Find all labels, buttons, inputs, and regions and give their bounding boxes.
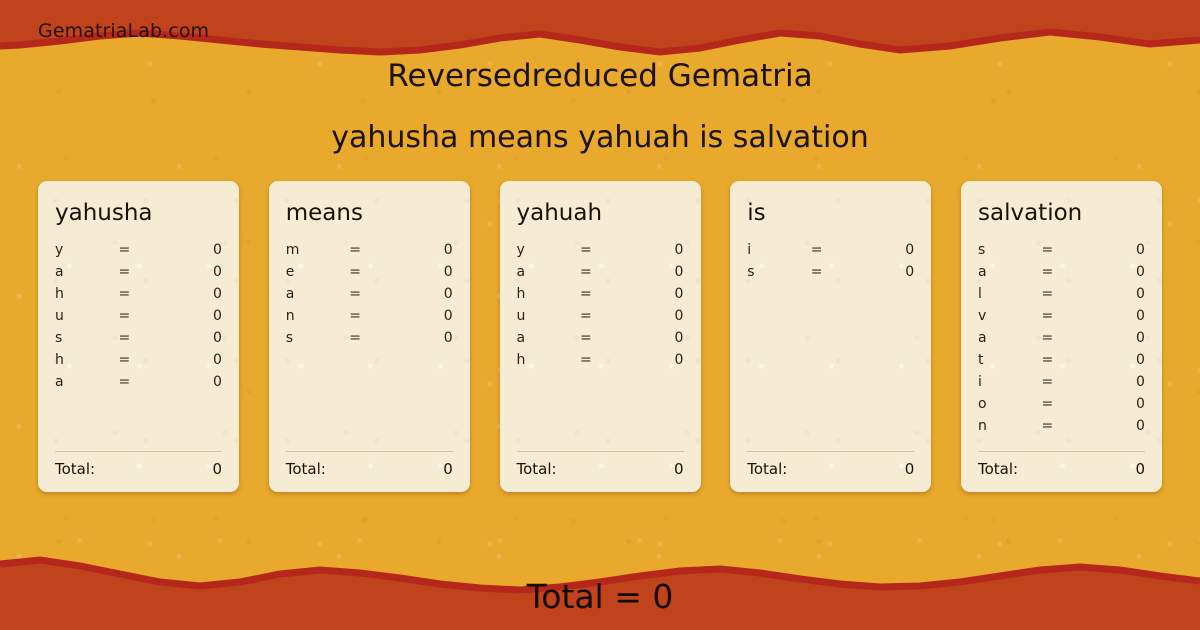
word-card-title: yahuah (517, 201, 684, 225)
letter-value: 0 (623, 261, 683, 283)
word-card-title: yahusha (55, 201, 222, 225)
letter-glyph: a (978, 261, 1041, 283)
phrase-heading: yahusha means yahuah is salvation (0, 120, 1200, 155)
letter-value: 0 (623, 349, 683, 371)
letter-glyph: a (517, 261, 580, 283)
letter-row-list: i=0s=0 (747, 239, 914, 451)
equals-sign: = (118, 349, 161, 371)
card-total-label: Total: (517, 460, 557, 478)
equals-sign: = (1041, 261, 1084, 283)
letter-value: 0 (1085, 371, 1145, 393)
letter-row: a=0 (517, 261, 684, 283)
word-card: meansm=0e=0a=0n=0s=0Total:0 (269, 181, 470, 492)
equals-sign: = (118, 283, 161, 305)
letter-row: h=0 (55, 283, 222, 305)
letter-value: 0 (393, 261, 453, 283)
equals-sign: = (349, 305, 392, 327)
letter-glyph: y (517, 239, 580, 261)
letter-value: 0 (1085, 327, 1145, 349)
word-card: yahuahy=0a=0h=0u=0a=0h=0Total:0 (500, 181, 701, 492)
letter-row: l=0 (978, 283, 1145, 305)
letter-glyph: v (978, 305, 1041, 327)
letter-glyph: n (286, 305, 349, 327)
letter-row: a=0 (978, 327, 1145, 349)
letter-value: 0 (623, 283, 683, 305)
letter-row-list: m=0e=0a=0n=0s=0 (286, 239, 453, 451)
card-divider (517, 451, 684, 452)
letter-row: a=0 (978, 261, 1145, 283)
card-total-row: Total:0 (517, 460, 684, 478)
card-divider (286, 451, 453, 452)
equals-sign: = (349, 283, 392, 305)
letter-value: 0 (1085, 305, 1145, 327)
letter-value: 0 (162, 305, 222, 327)
letter-row: u=0 (55, 305, 222, 327)
letter-row: a=0 (517, 327, 684, 349)
equals-sign: = (118, 261, 161, 283)
letter-glyph: y (55, 239, 118, 261)
letter-row: a=0 (55, 371, 222, 393)
letter-glyph: s (978, 239, 1041, 261)
letter-row: i=0 (978, 371, 1145, 393)
letter-row: o=0 (978, 393, 1145, 415)
word-card-title: salvation (978, 201, 1145, 225)
letter-row-list: y=0a=0h=0u=0a=0h=0 (517, 239, 684, 451)
letter-glyph: s (747, 261, 810, 283)
card-total-value: 0 (212, 460, 222, 478)
equals-sign: = (349, 239, 392, 261)
equals-sign: = (580, 283, 623, 305)
letter-row: s=0 (286, 327, 453, 349)
equals-sign: = (1041, 305, 1084, 327)
letter-row: n=0 (286, 305, 453, 327)
equals-sign: = (811, 261, 854, 283)
letter-row: n=0 (978, 415, 1145, 437)
letter-value: 0 (1085, 349, 1145, 371)
equals-sign: = (118, 327, 161, 349)
letter-glyph: h (517, 349, 580, 371)
equals-sign: = (118, 371, 161, 393)
grand-total: Total = 0 (0, 577, 1200, 616)
card-total-row: Total:0 (55, 460, 222, 478)
card-total-value: 0 (443, 460, 453, 478)
letter-glyph: a (286, 283, 349, 305)
letter-row: e=0 (286, 261, 453, 283)
letter-glyph: l (978, 283, 1041, 305)
word-card-title: means (286, 201, 453, 225)
letter-row: y=0 (55, 239, 222, 261)
letter-row: y=0 (517, 239, 684, 261)
equals-sign: = (1041, 327, 1084, 349)
equals-sign: = (1041, 239, 1084, 261)
card-divider (978, 451, 1145, 452)
letter-value: 0 (623, 239, 683, 261)
letter-row: h=0 (517, 349, 684, 371)
equals-sign: = (580, 261, 623, 283)
card-total-row: Total:0 (747, 460, 914, 478)
equals-sign: = (1041, 349, 1084, 371)
letter-value: 0 (1085, 261, 1145, 283)
letter-row: s=0 (55, 327, 222, 349)
equals-sign: = (1041, 393, 1084, 415)
equals-sign: = (349, 327, 392, 349)
letter-glyph: h (55, 349, 118, 371)
letter-value: 0 (393, 239, 453, 261)
card-total-label: Total: (55, 460, 95, 478)
letter-value: 0 (162, 349, 222, 371)
letter-value: 0 (623, 327, 683, 349)
letter-value: 0 (393, 283, 453, 305)
word-card: isi=0s=0Total:0 (730, 181, 931, 492)
letter-glyph: h (55, 283, 118, 305)
letter-glyph: o (978, 393, 1041, 415)
letter-row: s=0 (978, 239, 1145, 261)
equals-sign: = (118, 305, 161, 327)
card-total-row: Total:0 (978, 460, 1145, 478)
letter-value: 0 (623, 305, 683, 327)
equals-sign: = (580, 327, 623, 349)
word-card-title: is (747, 201, 914, 225)
letter-value: 0 (162, 327, 222, 349)
letter-glyph: a (517, 327, 580, 349)
letter-glyph: n (978, 415, 1041, 437)
equals-sign: = (349, 261, 392, 283)
letter-glyph: e (286, 261, 349, 283)
equals-sign: = (1041, 415, 1084, 437)
cipher-title: Reversedreduced Gematria (0, 58, 1200, 94)
letter-value: 0 (162, 261, 222, 283)
letter-row: h=0 (55, 349, 222, 371)
equals-sign: = (580, 305, 623, 327)
card-total-value: 0 (905, 460, 915, 478)
equals-sign: = (118, 239, 161, 261)
letter-glyph: u (517, 305, 580, 327)
letter-glyph: m (286, 239, 349, 261)
equals-sign: = (580, 349, 623, 371)
letter-row: a=0 (55, 261, 222, 283)
equals-sign: = (1041, 283, 1084, 305)
letter-glyph: s (286, 327, 349, 349)
letter-row: i=0 (747, 239, 914, 261)
letter-value: 0 (854, 261, 914, 283)
letter-row-list: s=0a=0l=0v=0a=0t=0i=0o=0n=0 (978, 239, 1145, 451)
letter-value: 0 (1085, 415, 1145, 437)
card-divider (747, 451, 914, 452)
equals-sign: = (811, 239, 854, 261)
letter-value: 0 (393, 327, 453, 349)
letter-glyph: a (978, 327, 1041, 349)
card-total-value: 0 (1135, 460, 1145, 478)
letter-value: 0 (162, 283, 222, 305)
letter-value: 0 (1085, 283, 1145, 305)
equals-sign: = (580, 239, 623, 261)
letter-row: u=0 (517, 305, 684, 327)
card-total-label: Total: (747, 460, 787, 478)
letter-value: 0 (854, 239, 914, 261)
letter-glyph: i (978, 371, 1041, 393)
card-total-label: Total: (286, 460, 326, 478)
card-total-row: Total:0 (286, 460, 453, 478)
letter-row-list: y=0a=0h=0u=0s=0h=0a=0 (55, 239, 222, 451)
card-total-label: Total: (978, 460, 1018, 478)
letter-row: s=0 (747, 261, 914, 283)
card-total-value: 0 (674, 460, 684, 478)
letter-glyph: u (55, 305, 118, 327)
equals-sign: = (1041, 371, 1084, 393)
site-logo[interactable]: GematriaLab.com (38, 20, 209, 42)
letter-glyph: h (517, 283, 580, 305)
card-divider (55, 451, 222, 452)
letter-value: 0 (162, 239, 222, 261)
letter-row: a=0 (286, 283, 453, 305)
letter-glyph: a (55, 371, 118, 393)
letter-row: v=0 (978, 305, 1145, 327)
letter-glyph: t (978, 349, 1041, 371)
letter-row: h=0 (517, 283, 684, 305)
word-card: salvations=0a=0l=0v=0a=0t=0i=0o=0n=0Tota… (961, 181, 1162, 492)
letter-glyph: s (55, 327, 118, 349)
letter-value: 0 (393, 305, 453, 327)
word-card: yahushay=0a=0h=0u=0s=0h=0a=0Total:0 (38, 181, 239, 492)
letter-glyph: a (55, 261, 118, 283)
letter-value: 0 (1085, 239, 1145, 261)
letter-row: t=0 (978, 349, 1145, 371)
word-card-list: yahushay=0a=0h=0u=0s=0h=0a=0Total:0means… (38, 181, 1162, 492)
letter-glyph: i (747, 239, 810, 261)
letter-row: m=0 (286, 239, 453, 261)
letter-value: 0 (162, 371, 222, 393)
letter-value: 0 (1085, 393, 1145, 415)
